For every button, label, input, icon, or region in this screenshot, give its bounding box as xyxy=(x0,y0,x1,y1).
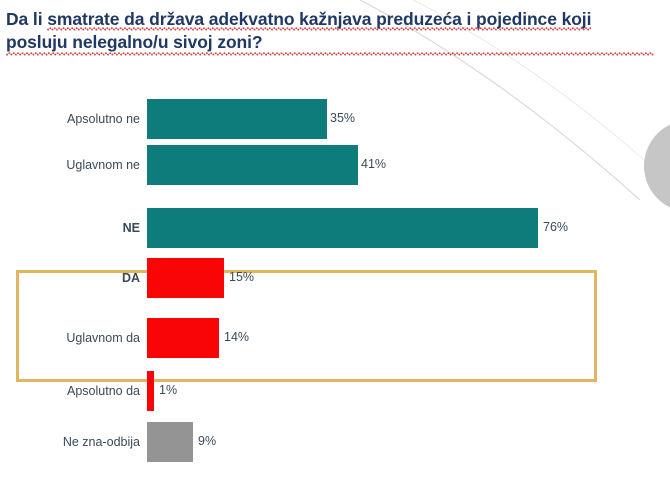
bar-uglavnom-ne xyxy=(147,145,358,185)
chart-row: Uglavnom da 14% xyxy=(0,315,670,361)
bar-uglavnom-da xyxy=(147,318,219,358)
value-label: 9% xyxy=(198,434,216,448)
chart-row: Apsolutno da 1% xyxy=(0,368,670,414)
value-label: 35% xyxy=(330,111,355,125)
title-line-1-text: smatrate da država adekvatno kažnjava pr… xyxy=(47,9,591,31)
chart-row: DA 15% xyxy=(0,255,670,301)
value-label: 15% xyxy=(229,270,254,284)
bar-ne xyxy=(147,208,538,248)
category-label: NE xyxy=(10,221,140,235)
category-label: Apsolutno ne xyxy=(10,112,140,126)
bar-apsolutno-da xyxy=(147,371,154,411)
bar-chart: Apsolutno ne 35% Uglavnom ne 41% NE 76% … xyxy=(0,72,670,480)
value-label: 1% xyxy=(159,383,177,397)
bar-apsolutno-ne xyxy=(147,99,327,139)
category-label: Ne zna-odbija xyxy=(10,435,140,449)
value-label: 14% xyxy=(224,330,249,344)
bar-ne-zna-odbija xyxy=(147,422,193,462)
category-label: Apsolutno da xyxy=(10,384,140,398)
title-line-2: posluju nelegalno/u sivoj zoni? xyxy=(6,31,654,56)
value-label: 41% xyxy=(361,157,386,171)
chart-row: Ne zna-odbija 9% xyxy=(0,419,670,465)
slide-canvas: Da li smatrate da država adekvatno kažnj… xyxy=(0,0,670,480)
chart-row: Apsolutno ne 35% xyxy=(0,96,670,142)
bar-da xyxy=(147,258,224,298)
category-label: Uglavnom ne xyxy=(10,158,140,172)
chart-row: Uglavnom ne 41% xyxy=(0,142,670,188)
chart-row: NE 76% xyxy=(0,205,670,251)
value-label: 76% xyxy=(543,220,568,234)
page-title: Da li smatrate da država adekvatno kažnj… xyxy=(6,8,654,56)
title-line-1: Da li smatrate da država adekvatno kažnj… xyxy=(6,8,654,31)
category-label: DA xyxy=(10,271,140,285)
category-label: Uglavnom da xyxy=(10,331,140,345)
